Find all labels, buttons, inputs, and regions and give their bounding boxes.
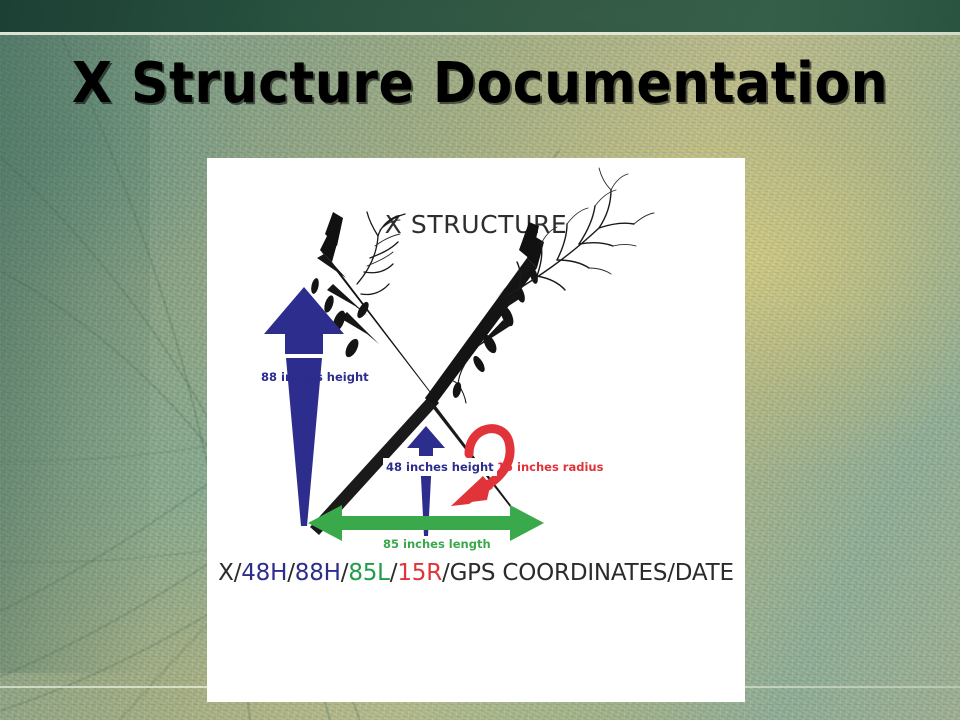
slide-title: X Structure Documentation	[34, 53, 927, 115]
background-left-shadow	[0, 33, 150, 673]
code-segment-8: /GPS COORDINATES/DATE	[442, 560, 734, 586]
code-segment-5: 85L	[348, 560, 389, 586]
top-band	[0, 0, 960, 32]
label-15-inches-radius: 15 inches radius	[497, 460, 603, 474]
arrow-88-inches-icon	[264, 287, 344, 526]
documentation-code-line: X/48H/88H/85L/15R/GPS COORDINATES/DATE	[207, 560, 745, 586]
code-segment-0: X/	[218, 560, 241, 586]
top-divider-line	[0, 32, 960, 35]
code-segment-1: 48H	[241, 560, 287, 586]
label-88-inches-height: 88 inches height	[261, 370, 369, 384]
label-48-inches-height: 48 inches height	[383, 458, 497, 476]
code-segment-3: 88H	[295, 560, 341, 586]
code-segment-2: /	[287, 560, 295, 586]
label-85-inches-length: 85 inches length	[383, 537, 491, 551]
x-structure-illustration	[207, 158, 745, 702]
code-segment-7: 15R	[397, 560, 442, 586]
diagram-panel: X STRUCTURE	[207, 158, 745, 702]
slide: X Structure Documentation X STRUCTURE	[0, 0, 960, 720]
